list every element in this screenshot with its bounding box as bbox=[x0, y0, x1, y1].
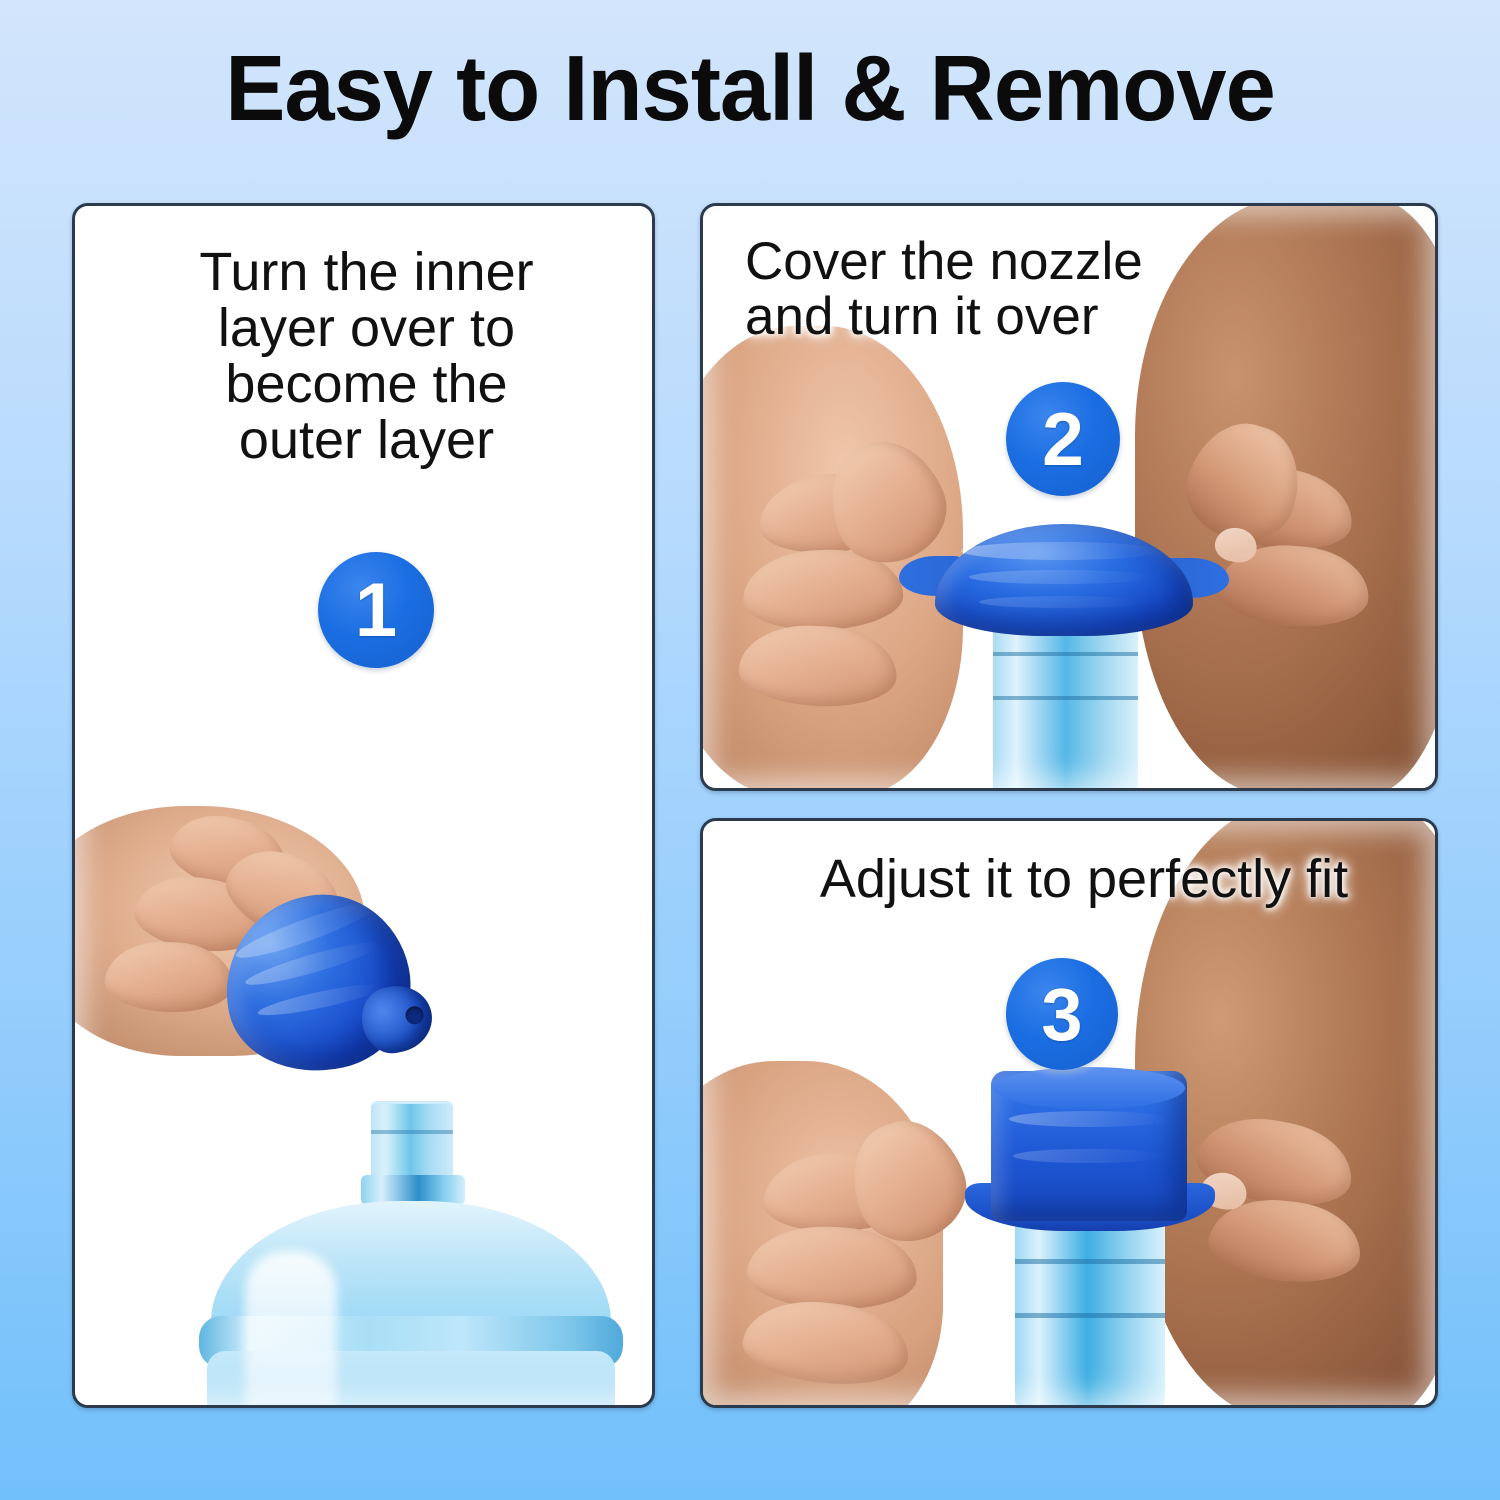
step-2-caption: Cover the nozzle and turn it over bbox=[745, 234, 1265, 344]
bottle-neck bbox=[1015, 1213, 1165, 1405]
step-panel-2: Cover the nozzle and turn it over bbox=[700, 203, 1438, 791]
bottle-nozzle bbox=[993, 618, 1138, 788]
step-panel-3: Adjust it to perfectly fit bbox=[700, 818, 1438, 1408]
step-3-caption: Adjust it to perfectly fit bbox=[739, 851, 1429, 907]
cap-top bbox=[993, 1067, 1185, 1109]
caption-line: Turn the inner bbox=[105, 244, 628, 300]
step-number-badge-1: 1 bbox=[318, 552, 434, 668]
water-jug bbox=[193, 1101, 628, 1405]
infographic-canvas: Easy to Install & Remove bbox=[0, 0, 1500, 1500]
step-number-badge-3: 3 bbox=[1006, 958, 1118, 1070]
caption-line: layer over to bbox=[105, 300, 628, 356]
caption-line: outer layer bbox=[105, 412, 628, 468]
caption-line: and turn it over bbox=[745, 289, 1265, 344]
step-1-caption: Turn the inner layer over to become the … bbox=[105, 244, 628, 469]
step-panel-1: Turn the inner layer over to become the … bbox=[72, 203, 655, 1408]
jug-neck bbox=[371, 1101, 453, 1182]
caption-line: Adjust it to perfectly fit bbox=[739, 851, 1429, 907]
caption-line: Cover the nozzle bbox=[745, 234, 1265, 289]
page-title: Easy to Install & Remove bbox=[23, 42, 1478, 135]
step-number-badge-2: 2 bbox=[1006, 382, 1120, 496]
jug-highlight bbox=[245, 1251, 337, 1405]
caption-line: become the bbox=[105, 356, 628, 412]
